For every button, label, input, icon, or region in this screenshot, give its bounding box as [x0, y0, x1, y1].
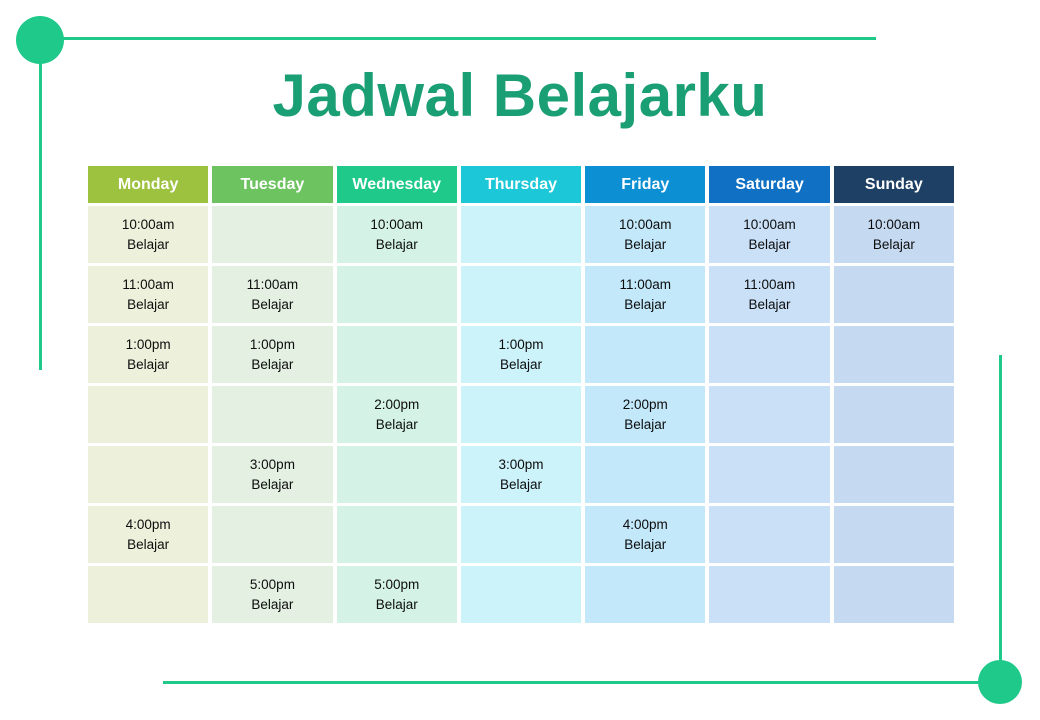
slot-time: 5:00pm	[250, 578, 295, 592]
schedule-slot-empty[interactable]	[337, 506, 457, 563]
schedule-table: Monday10:00amBelajar11:00amBelajar1:00pm…	[88, 166, 954, 623]
schedule-slot-empty[interactable]	[585, 326, 705, 383]
slide-canvas: Jadwal Belajarku Monday10:00amBelajar11:…	[0, 0, 1040, 720]
day-header-wednesday[interactable]: Wednesday	[337, 166, 457, 203]
schedule-slot-empty[interactable]	[88, 386, 208, 443]
slot-activity: Belajar	[749, 238, 791, 252]
slot-time: 10:00am	[619, 218, 672, 232]
slot-time: 11:00am	[247, 278, 299, 292]
slot-time: 1:00pm	[250, 338, 295, 352]
schedule-slot-filled[interactable]: 10:00amBelajar	[834, 206, 954, 263]
schedule-slot-empty[interactable]	[585, 446, 705, 503]
slot-activity: Belajar	[251, 298, 293, 312]
page-title: Jadwal Belajarku	[0, 66, 1040, 126]
schedule-slot-filled[interactable]: 5:00pmBelajar	[337, 566, 457, 623]
day-header-thursday[interactable]: Thursday	[461, 166, 581, 203]
slot-activity: Belajar	[376, 598, 418, 612]
schedule-slot-empty[interactable]	[834, 446, 954, 503]
schedule-slot-empty[interactable]	[337, 446, 457, 503]
day-header-sunday[interactable]: Sunday	[834, 166, 954, 203]
slot-activity: Belajar	[500, 478, 542, 492]
slot-time: 11:00am	[122, 278, 174, 292]
slot-time: 2:00pm	[374, 398, 419, 412]
schedule-slot-filled[interactable]: 10:00amBelajar	[709, 206, 829, 263]
schedule-slot-filled[interactable]: 4:00pmBelajar	[585, 506, 705, 563]
schedule-slot-filled[interactable]: 11:00amBelajar	[709, 266, 829, 323]
schedule-slot-filled[interactable]: 11:00amBelajar	[585, 266, 705, 323]
schedule-slot-empty[interactable]	[461, 386, 581, 443]
day-column-thursday: Thursday1:00pmBelajar3:00pmBelajar	[461, 166, 581, 623]
slot-activity: Belajar	[376, 418, 418, 432]
schedule-slot-empty[interactable]	[212, 506, 332, 563]
schedule-slot-filled[interactable]: 1:00pmBelajar	[461, 326, 581, 383]
slot-activity: Belajar	[624, 538, 666, 552]
schedule-slot-filled[interactable]: 10:00amBelajar	[88, 206, 208, 263]
day-column-tuesday: Tuesday11:00amBelajar1:00pmBelajar3:00pm…	[212, 166, 332, 623]
slot-time: 10:00am	[370, 218, 423, 232]
day-header-friday[interactable]: Friday	[585, 166, 705, 203]
slot-activity: Belajar	[251, 478, 293, 492]
slot-time: 2:00pm	[623, 398, 668, 412]
schedule-slot-empty[interactable]	[709, 566, 829, 623]
schedule-slot-empty[interactable]	[88, 446, 208, 503]
schedule-slot-empty[interactable]	[834, 506, 954, 563]
schedule-slot-empty[interactable]	[461, 566, 581, 623]
schedule-slot-empty[interactable]	[212, 386, 332, 443]
schedule-slot-empty[interactable]	[461, 206, 581, 263]
schedule-slot-filled[interactable]: 5:00pmBelajar	[212, 566, 332, 623]
slot-activity: Belajar	[749, 298, 791, 312]
slot-time: 11:00am	[744, 278, 796, 292]
slot-time: 1:00pm	[498, 338, 543, 352]
schedule-slot-empty[interactable]	[834, 566, 954, 623]
slot-activity: Belajar	[127, 298, 169, 312]
slot-time: 3:00pm	[250, 458, 295, 472]
day-header-saturday[interactable]: Saturday	[709, 166, 829, 203]
schedule-slot-filled[interactable]: 3:00pmBelajar	[212, 446, 332, 503]
schedule-slot-empty[interactable]	[337, 326, 457, 383]
schedule-slot-filled[interactable]: 1:00pmBelajar	[88, 326, 208, 383]
vertical-rule-right	[999, 355, 1002, 682]
slot-activity: Belajar	[127, 358, 169, 372]
slot-time: 10:00am	[743, 218, 796, 232]
schedule-slot-empty[interactable]	[709, 446, 829, 503]
schedule-slot-empty[interactable]	[212, 206, 332, 263]
horizontal-rule-top	[40, 37, 876, 40]
slot-time: 5:00pm	[374, 578, 419, 592]
slot-time: 3:00pm	[498, 458, 543, 472]
schedule-slot-empty[interactable]	[88, 566, 208, 623]
slot-activity: Belajar	[500, 358, 542, 372]
slot-activity: Belajar	[127, 538, 169, 552]
schedule-slot-filled[interactable]: 4:00pmBelajar	[88, 506, 208, 563]
schedule-slot-empty[interactable]	[461, 506, 581, 563]
schedule-slot-empty[interactable]	[834, 326, 954, 383]
schedule-slot-filled[interactable]: 2:00pmBelajar	[585, 386, 705, 443]
slot-time: 10:00am	[122, 218, 175, 232]
slot-activity: Belajar	[624, 238, 666, 252]
slot-time: 1:00pm	[126, 338, 171, 352]
schedule-slot-filled[interactable]: 2:00pmBelajar	[337, 386, 457, 443]
day-header-monday[interactable]: Monday	[88, 166, 208, 203]
schedule-slot-empty[interactable]	[834, 266, 954, 323]
slot-activity: Belajar	[251, 598, 293, 612]
schedule-slot-filled[interactable]: 1:00pmBelajar	[212, 326, 332, 383]
schedule-slot-empty[interactable]	[709, 326, 829, 383]
day-column-wednesday: Wednesday10:00amBelajar2:00pmBelajar5:00…	[337, 166, 457, 623]
schedule-slot-empty[interactable]	[834, 386, 954, 443]
schedule-slot-empty[interactable]	[709, 386, 829, 443]
schedule-slot-filled[interactable]: 10:00amBelajar	[337, 206, 457, 263]
schedule-slot-empty[interactable]	[461, 266, 581, 323]
schedule-slot-empty[interactable]	[709, 506, 829, 563]
slot-activity: Belajar	[624, 418, 666, 432]
day-column-sunday: Sunday10:00amBelajar	[834, 166, 954, 623]
schedule-slot-empty[interactable]	[337, 266, 457, 323]
slot-time: 11:00am	[619, 278, 671, 292]
day-column-monday: Monday10:00amBelajar11:00amBelajar1:00pm…	[88, 166, 208, 623]
schedule-slot-filled[interactable]: 11:00amBelajar	[88, 266, 208, 323]
schedule-slot-filled[interactable]: 11:00amBelajar	[212, 266, 332, 323]
schedule-slot-empty[interactable]	[585, 566, 705, 623]
slot-activity: Belajar	[624, 298, 666, 312]
schedule-slot-filled[interactable]: 10:00amBelajar	[585, 206, 705, 263]
horizontal-rule-bottom	[163, 681, 1000, 684]
slot-time: 4:00pm	[623, 518, 668, 532]
slot-time: 4:00pm	[126, 518, 171, 532]
day-header-tuesday[interactable]: Tuesday	[212, 166, 332, 203]
slot-time: 10:00am	[868, 218, 921, 232]
day-column-saturday: Saturday10:00amBelajar11:00amBelajar	[709, 166, 829, 623]
schedule-slot-filled[interactable]: 3:00pmBelajar	[461, 446, 581, 503]
slot-activity: Belajar	[127, 238, 169, 252]
slot-activity: Belajar	[873, 238, 915, 252]
slot-activity: Belajar	[251, 358, 293, 372]
slot-activity: Belajar	[376, 238, 418, 252]
day-column-friday: Friday10:00amBelajar11:00amBelajar2:00pm…	[585, 166, 705, 623]
